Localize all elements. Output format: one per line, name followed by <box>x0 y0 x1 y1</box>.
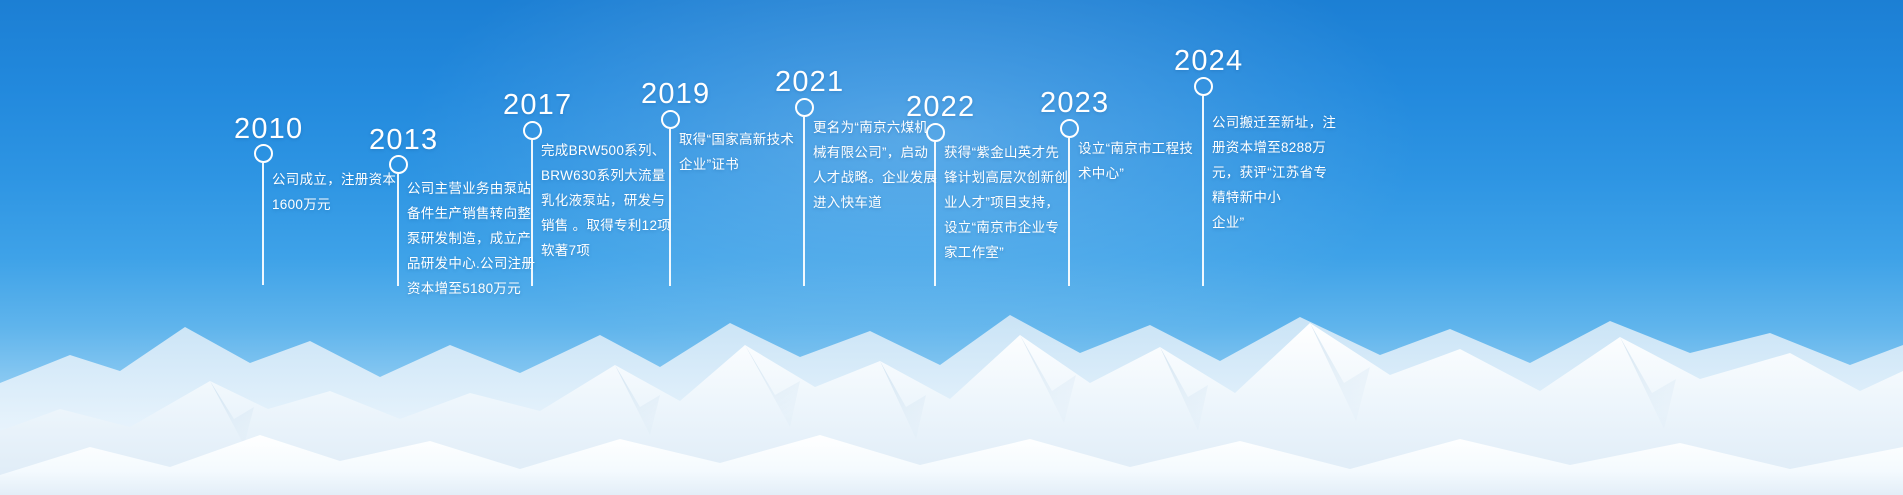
milestone-description-line: 企业”证书 <box>679 152 794 177</box>
milestone-description-line: 公司成立，注册资本 <box>272 167 396 192</box>
milestone-stem-line <box>934 142 936 286</box>
milestone-stem-line <box>262 163 264 285</box>
milestone-stem-line <box>397 174 399 286</box>
milestone-description-line: 家工作室” <box>944 240 1068 265</box>
milestone-description: 公司搬迁至新址，注册资本增至8288万元，获评“江苏省专精特新中小企业” <box>1212 110 1336 235</box>
milestone-dot-icon <box>523 121 542 140</box>
milestone-dot-icon <box>661 110 680 129</box>
milestone-description-line: 企业” <box>1212 210 1336 235</box>
milestone-stem-line <box>531 140 533 286</box>
milestone-year-label: 2024 <box>1174 45 1243 78</box>
milestone-description-line: 获得“紫金山英才先 <box>944 140 1068 165</box>
milestone-description: 完成BRW500系列、BRW630系列大流量乳化液泵站，研发与销售 。取得专利1… <box>541 138 671 263</box>
milestone-description-line: 备件生产销售转向整 <box>407 201 535 226</box>
milestone-description-line: 乳化液泵站，研发与 <box>541 188 671 213</box>
milestone-description-line: 进入快车道 <box>813 190 937 215</box>
milestone-description-line: 设立“南京市工程技 <box>1078 136 1193 161</box>
milestone-description: 获得“紫金山英才先锋计划高层次创新创业人才”项目支持，设立“南京市企业专家工作室… <box>944 140 1068 265</box>
milestone-dot-icon <box>1060 119 1079 138</box>
milestone-year-label: 2021 <box>775 66 844 99</box>
milestone-description-line: 术中心” <box>1078 161 1193 186</box>
milestone-stem-line <box>669 129 671 286</box>
milestone-year-label: 2023 <box>1040 87 1109 120</box>
milestone-year-label: 2013 <box>369 124 438 157</box>
milestone-description-line: 业人才”项目支持， <box>944 190 1068 215</box>
milestone-description-line: 册资本增至8288万 <box>1212 135 1336 160</box>
milestone-description-line: 泵研发制造，成立产 <box>407 226 535 251</box>
milestone-stem-line <box>1068 138 1070 286</box>
milestone-description: 设立“南京市工程技术中心” <box>1078 136 1193 186</box>
milestone-year-label: 2022 <box>906 91 975 124</box>
milestone-year-label: 2010 <box>234 113 303 146</box>
milestone-description-line: 销售 。取得专利12项 <box>541 213 671 238</box>
milestone-description-line: BRW630系列大流量 <box>541 163 671 188</box>
milestone-description-line: 公司主营业务由泵站 <box>407 176 535 201</box>
milestone-description-line: 元，获评“江苏省专 <box>1212 160 1336 185</box>
milestone-description-line: 软著7项 <box>541 238 671 263</box>
milestone-description-line: 人才战略。企业发展 <box>813 165 937 190</box>
milestone-description-line: 精特新中小 <box>1212 185 1336 210</box>
milestone-description-line: 公司搬迁至新址，注 <box>1212 110 1336 135</box>
milestone-stem-line <box>1202 96 1204 286</box>
milestone-description-line: 取得“国家高新技术 <box>679 127 794 152</box>
milestone-description: 公司主营业务由泵站备件生产销售转向整泵研发制造，成立产品研发中心.公司注册资本增… <box>407 176 535 301</box>
milestone-stem-line <box>803 117 805 286</box>
milestone-description: 公司成立，注册资本1600万元 <box>272 167 396 217</box>
timeline: 2010公司成立，注册资本1600万元2013公司主营业务由泵站备件生产销售转向… <box>0 0 1903 495</box>
milestone-year-label: 2017 <box>503 89 572 122</box>
milestone-description: 更名为“南京六煤机械有限公司”，启动人才战略。企业发展进入快车道 <box>813 115 937 215</box>
milestone-description: 取得“国家高新技术企业”证书 <box>679 127 794 177</box>
milestone-dot-icon <box>926 123 945 142</box>
milestone-description-line: 品研发中心.公司注册 <box>407 251 535 276</box>
milestone-dot-icon <box>1194 77 1213 96</box>
milestone-year-label: 2019 <box>641 78 710 111</box>
milestone-dot-icon <box>389 155 408 174</box>
milestone-description-line: 完成BRW500系列、 <box>541 138 671 163</box>
milestone-dot-icon <box>795 98 814 117</box>
milestone-description-line: 械有限公司”，启动 <box>813 140 937 165</box>
milestone-description-line: 资本增至5180万元 <box>407 276 535 301</box>
milestone-description-line: 1600万元 <box>272 192 396 217</box>
milestone-dot-icon <box>254 144 273 163</box>
milestone-description-line: 锋计划高层次创新创 <box>944 165 1068 190</box>
milestone-description-line: 设立“南京市企业专 <box>944 215 1068 240</box>
